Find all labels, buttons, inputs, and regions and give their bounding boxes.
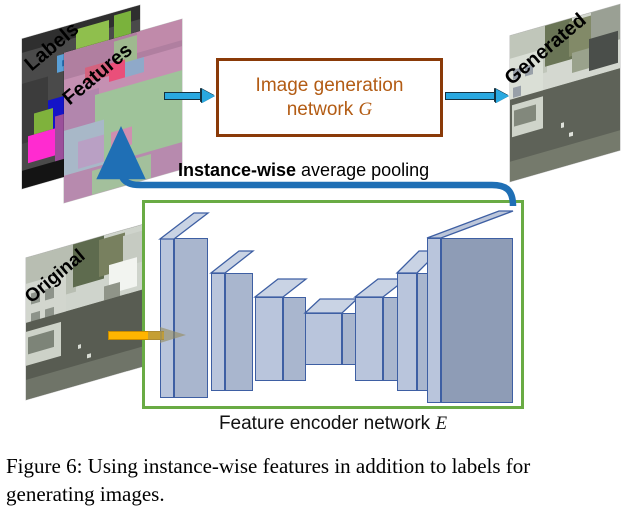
block-front-face (211, 273, 225, 391)
image-generation-network-box: Image generation network G (216, 58, 443, 137)
block-top-face (305, 299, 357, 313)
figure-caption: Figure 6: Using instance-wise features i… (0, 452, 629, 508)
block-side-face (283, 297, 306, 381)
genbox-line-2-text: network (287, 99, 354, 120)
arrow-generator-to-generated (445, 89, 511, 103)
block-side-face (225, 273, 253, 391)
pooling-label-rest: average pooling (296, 160, 429, 180)
block-side-face (174, 238, 208, 398)
encoder-block-7-output (427, 211, 513, 403)
block-front-face (305, 313, 342, 365)
encoder-caption-text: Feature encoder network (219, 413, 430, 434)
block-top-face (255, 279, 306, 297)
arrow-head (496, 89, 509, 103)
original-to-encoder-arrow (108, 327, 186, 343)
generator-symbol: G (359, 99, 373, 120)
arrow-shaft (445, 92, 497, 100)
feature-encoder-caption: Feature encoder network E (142, 413, 524, 435)
encoder-block-4-bottleneck (305, 299, 357, 365)
arrow-shaft (164, 92, 203, 100)
generated-image-plane: Generated (510, 20, 620, 166)
block-top-face (160, 213, 208, 239)
encoder-symbol: E (435, 413, 447, 434)
arrow-features-to-generator (164, 89, 216, 103)
encoder-block-3 (255, 279, 306, 381)
original-image (26, 224, 144, 400)
encoder-block-2 (211, 251, 253, 391)
figure-diagram: Labels Features (0, 0, 629, 450)
arrow-head (160, 327, 186, 343)
figure-caption-area: Figure 6: Using instance-wise features i… (0, 452, 629, 527)
block-top-face (427, 211, 513, 238)
original-image-plane: Original (26, 241, 144, 383)
block-front-face (255, 297, 283, 381)
pooling-label-bold: Instance-wise (178, 160, 296, 180)
arrow-head (202, 89, 215, 103)
block-front-face (355, 297, 383, 381)
features-image-plane: Features (64, 36, 182, 186)
genbox-line-2: network G (287, 98, 373, 122)
block-front-face (160, 238, 174, 398)
block-side-face (441, 238, 513, 403)
instance-wise-pooling-label: Instance-wise average pooling (178, 160, 508, 181)
encoder-block-1 (160, 213, 208, 398)
block-front-face (397, 273, 417, 391)
genbox-line-1: Image generation (256, 74, 404, 98)
block-front-face (427, 238, 441, 403)
block-top-face (211, 251, 253, 273)
